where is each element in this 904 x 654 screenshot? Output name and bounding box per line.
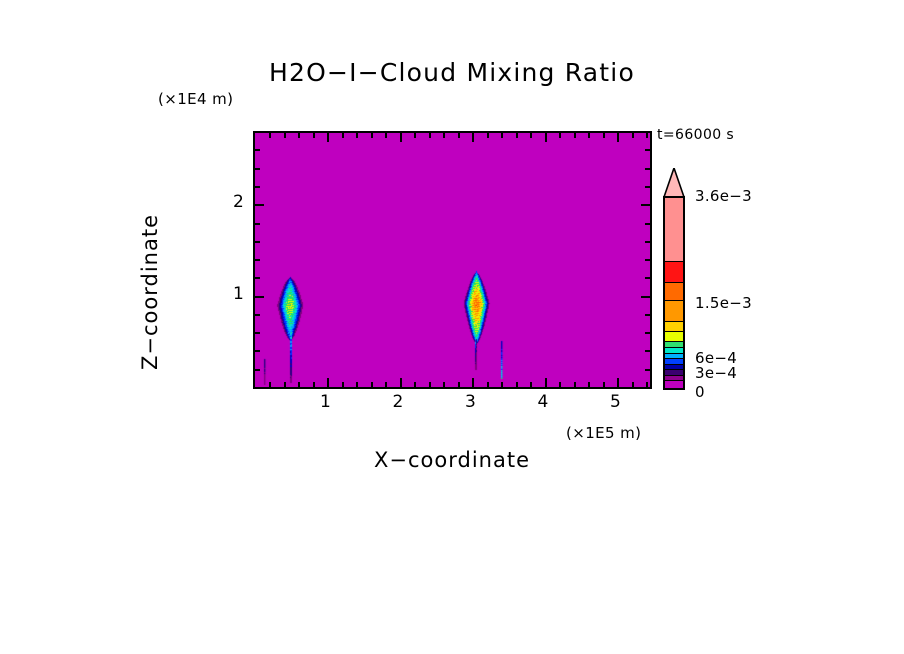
y-tick-left (255, 369, 260, 371)
x-tick-top (516, 133, 518, 138)
y-tick-right (645, 350, 650, 352)
x-tick-top (356, 133, 358, 138)
x-tick-bottom (400, 378, 402, 387)
x-tick-top (443, 133, 445, 138)
y-tick-left (255, 277, 260, 279)
y-tick-label: 2 (233, 192, 244, 212)
x-tick-top (603, 133, 605, 138)
y-tick-left (255, 186, 260, 188)
y-tick-right (641, 204, 650, 206)
x-tick-bottom (646, 382, 648, 387)
x-tick-top (284, 133, 286, 138)
page-title: H2O−I−Cloud Mixing Ratio (0, 58, 904, 87)
colorbar-band (665, 262, 683, 283)
x-tick-bottom (617, 378, 619, 387)
colorbar-band (665, 322, 683, 332)
x-tick-top (429, 133, 431, 138)
y-tick-right (645, 149, 650, 151)
x-tick-bottom (313, 382, 315, 387)
x-tick-top (487, 133, 489, 138)
contour-field (255, 133, 650, 387)
x-tick-bottom (443, 382, 445, 387)
y-tick-right (645, 241, 650, 243)
y-axis-unit-label: (×1E4 m) (158, 90, 233, 108)
colorbar-extend-arrow-icon (663, 168, 685, 198)
x-tick-label: 3 (465, 392, 476, 412)
y-tick-left (255, 149, 260, 151)
y-tick-label: 1 (233, 284, 244, 304)
x-tick-top (371, 133, 373, 138)
y-tick-left (255, 223, 260, 225)
colorbar-tick-label: 3.6e−3 (695, 187, 752, 205)
x-tick-top (458, 133, 460, 138)
y-tick-right (645, 277, 650, 279)
x-tick-top (559, 133, 561, 138)
y-tick-right (645, 168, 650, 170)
colorbar-tick-label: 3e−4 (695, 364, 737, 382)
y-tick-left (255, 259, 260, 261)
x-tick-top (472, 133, 474, 142)
x-tick-bottom (371, 382, 373, 387)
contour-canvas (255, 133, 650, 387)
y-tick-right (645, 314, 650, 316)
x-tick-bottom (327, 378, 329, 387)
x-tick-top (646, 133, 648, 138)
y-tick-left (255, 168, 260, 170)
x-tick-bottom (284, 382, 286, 387)
x-tick-top (400, 133, 402, 142)
colorbar-band (665, 301, 683, 322)
y-tick-left (255, 296, 264, 298)
colorbar (663, 168, 687, 390)
x-tick-bottom (516, 382, 518, 387)
y-tick-left (255, 332, 260, 334)
x-tick-label: 5 (610, 392, 621, 412)
x-tick-top (588, 133, 590, 138)
x-tick-top (414, 133, 416, 138)
y-tick-left (255, 204, 264, 206)
x-axis-title: X−coordinate (0, 448, 904, 472)
y-tick-right (645, 332, 650, 334)
x-tick-top (617, 133, 619, 142)
x-tick-bottom (342, 382, 344, 387)
x-tick-bottom (458, 382, 460, 387)
x-tick-top (530, 133, 532, 138)
colorbar-tick-label: 0 (695, 383, 705, 401)
x-tick-bottom (530, 382, 532, 387)
colorbar-bands (663, 196, 685, 390)
y-tick-left (255, 241, 260, 243)
y-tick-right (641, 296, 650, 298)
x-tick-top (342, 133, 344, 138)
x-tick-label: 1 (320, 392, 331, 412)
x-tick-bottom (414, 382, 416, 387)
y-tick-left (255, 350, 260, 352)
x-tick-top (313, 133, 315, 138)
x-axis-unit-label: (×1E5 m) (566, 424, 641, 442)
x-tick-bottom (632, 382, 634, 387)
x-tick-top (545, 133, 547, 142)
x-tick-bottom (559, 382, 561, 387)
x-tick-top (298, 133, 300, 138)
x-tick-bottom (545, 378, 547, 387)
x-tick-bottom (588, 382, 590, 387)
x-tick-bottom (298, 382, 300, 387)
y-tick-right (645, 369, 650, 371)
y-axis-title-wrapper: Z−coordinate (60, 110, 100, 410)
x-tick-top (269, 133, 271, 138)
y-tick-right (645, 259, 650, 261)
x-tick-bottom (269, 382, 271, 387)
x-tick-top (632, 133, 634, 138)
x-tick-bottom (385, 382, 387, 387)
time-annotation: t=66000 s (657, 127, 734, 143)
x-tick-top (574, 133, 576, 138)
colorbar-tick-label: 1.5e−3 (695, 294, 752, 312)
y-tick-right (645, 186, 650, 188)
colorbar-band (665, 381, 683, 388)
x-tick-top (385, 133, 387, 138)
x-tick-top (327, 133, 329, 142)
x-tick-bottom (574, 382, 576, 387)
x-tick-bottom (501, 382, 503, 387)
x-tick-bottom (603, 382, 605, 387)
x-tick-bottom (472, 378, 474, 387)
colorbar-band (665, 283, 683, 301)
y-axis-title: Z−coordinate (138, 142, 162, 442)
x-tick-bottom (487, 382, 489, 387)
x-tick-label: 2 (393, 392, 404, 412)
x-tick-top (501, 133, 503, 138)
colorbar-band (665, 198, 683, 262)
y-tick-left (255, 314, 260, 316)
x-tick-bottom (356, 382, 358, 387)
x-tick-label: 4 (537, 392, 548, 412)
x-tick-bottom (429, 382, 431, 387)
colorbar-band (665, 332, 683, 342)
plot-area (253, 131, 652, 389)
y-tick-right (645, 223, 650, 225)
